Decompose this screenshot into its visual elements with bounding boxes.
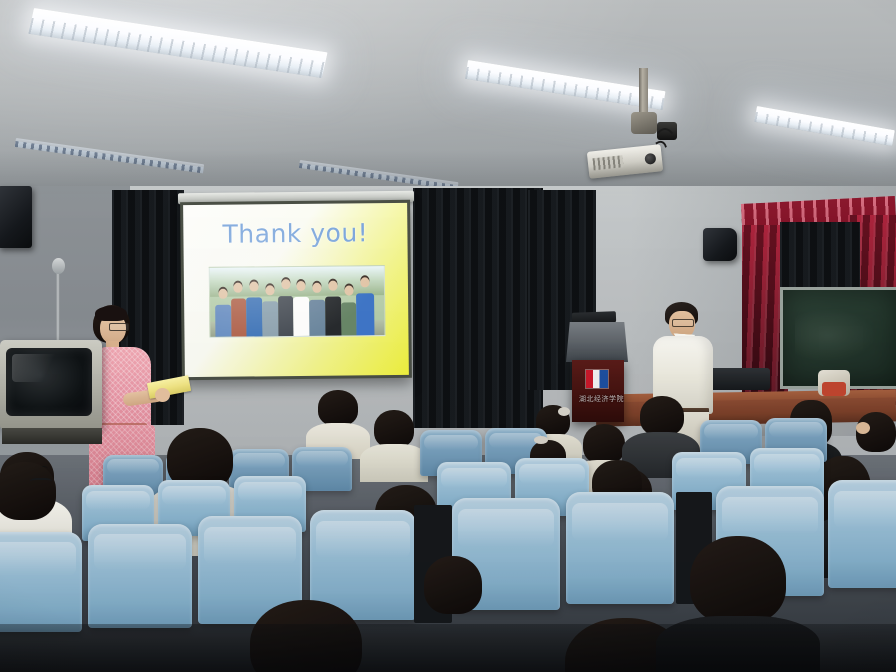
- auditorium-seat[interactable]: [828, 480, 896, 588]
- auditorium-seat[interactable]: [88, 524, 192, 628]
- podium-nameplate: 湖北经济学院: [579, 394, 624, 404]
- podium: 湖北经济学院: [572, 360, 624, 422]
- presenter-hand: [155, 388, 170, 402]
- slide-content: Thank you!: [183, 203, 409, 377]
- photo-person: [341, 286, 357, 336]
- photo-person: [356, 277, 374, 335]
- auditorium-seat[interactable]: [566, 492, 674, 604]
- crt-stand: [2, 428, 102, 444]
- projection-screen: Thank you!: [180, 200, 412, 380]
- chalk-smudge: [795, 309, 876, 362]
- photo-person: [309, 283, 325, 335]
- podium-top: [566, 322, 628, 362]
- slide-title: Thank you!: [183, 218, 407, 249]
- photo-person: [262, 285, 278, 336]
- stage-bag-strap: [822, 382, 846, 396]
- lecture-hall-photo: Thank you!: [0, 0, 896, 672]
- presenter-hair-front: [95, 306, 127, 321]
- photo-person: [325, 280, 341, 335]
- wall-speaker-left: [0, 186, 32, 248]
- auditorium-seat[interactable]: [0, 532, 82, 632]
- foreground-shadow: [0, 624, 896, 672]
- photo-person: [246, 281, 262, 336]
- projector-mount-bracket: [631, 112, 657, 134]
- crt-screen-glare: [12, 354, 72, 382]
- podium-microphone-tray: [572, 311, 616, 324]
- photo-person: [230, 283, 246, 337]
- photo-person: [278, 279, 294, 336]
- wall-conduit-cap: [52, 258, 65, 274]
- photo-person: [293, 281, 309, 336]
- projector-mount-pole: [639, 68, 648, 116]
- podium-logo: [586, 370, 608, 388]
- glasses-icon: [672, 319, 694, 327]
- slide-group-photo: [208, 265, 385, 338]
- stage-curtain-right: [413, 188, 543, 428]
- wall-speaker-right: [703, 228, 737, 261]
- photo-person: [215, 288, 231, 336]
- glasses-icon: [109, 323, 129, 331]
